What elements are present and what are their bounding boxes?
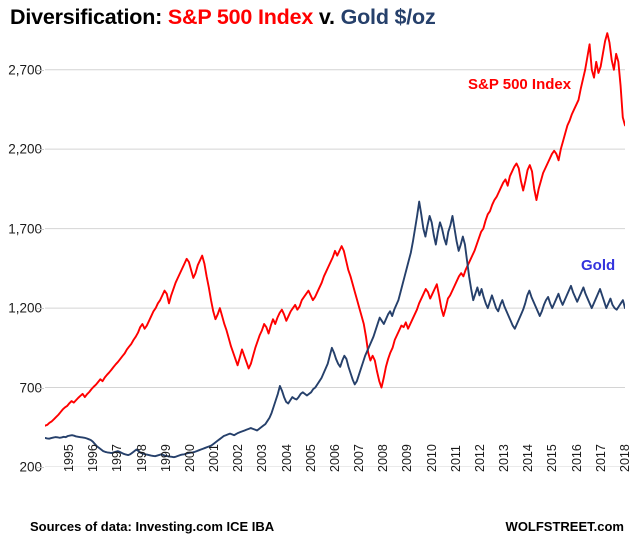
x-axis-tick-label: 2018 — [618, 444, 632, 472]
x-axis-tick-label: 1997 — [110, 444, 124, 472]
series-label-sp500: S&P 500 Index — [468, 76, 571, 93]
title-part-diversification: Diversification: — [10, 5, 168, 29]
series-label-gold: Gold — [581, 257, 615, 274]
series-line-gold — [45, 202, 625, 458]
x-axis-tick-label: 2001 — [207, 444, 221, 472]
title-part-versus: v. — [313, 5, 340, 29]
x-axis-tick-label: 2002 — [231, 444, 245, 472]
source-note: Sources of data: Investing.com ICE IBA — [30, 519, 274, 534]
x-axis-tick-label: 2013 — [497, 444, 511, 472]
chart-container: Diversification: S&P 500 Index v. Gold $… — [0, 0, 632, 540]
brand-note: WOLFSTREET.com — [506, 519, 624, 534]
y-axis-tick-mark — [37, 149, 44, 150]
x-axis-tick-label: 2014 — [521, 444, 535, 472]
title-part-sp500: S&P 500 Index — [168, 5, 313, 29]
y-axis-tick-mark — [37, 308, 44, 309]
plot-area — [45, 30, 625, 467]
x-axis-tick-label: 2016 — [570, 444, 584, 472]
y-axis-tick-mark — [37, 467, 44, 468]
chart-svg — [45, 30, 625, 467]
x-axis-tick-label: 2012 — [473, 444, 487, 472]
x-axis-tick-label: 2009 — [400, 444, 414, 472]
x-axis-tick-label: 2000 — [183, 444, 197, 472]
y-axis-tick-mark — [37, 229, 44, 230]
x-axis-tick-label: 2008 — [376, 444, 390, 472]
x-axis-tick-label: 1995 — [62, 444, 76, 472]
title-part-gold: Gold $/oz — [341, 5, 436, 29]
x-axis-tick-label: 1998 — [135, 444, 149, 472]
x-axis-tick-label: 2004 — [280, 444, 294, 472]
x-axis-tick-label: 2015 — [545, 444, 559, 472]
y-axis-tick-mark — [37, 70, 44, 71]
gridlines — [45, 70, 625, 467]
x-axis-tick-label: 2006 — [328, 444, 342, 472]
y-axis-tick-mark — [37, 388, 44, 389]
x-axis-tick-label: 2010 — [425, 444, 439, 472]
x-axis-tick-label: 2017 — [594, 444, 608, 472]
x-axis-tick-label: 2007 — [352, 444, 366, 472]
x-axis-tick-label: 2005 — [304, 444, 318, 472]
x-axis-tick-label: 1996 — [86, 444, 100, 472]
page-title: Diversification: S&P 500 Index v. Gold $… — [10, 2, 436, 32]
x-axis-tick-label: 2011 — [449, 445, 463, 472]
x-axis-tick-label: 2003 — [255, 444, 269, 472]
x-axis-tick-label: 1999 — [159, 444, 173, 472]
